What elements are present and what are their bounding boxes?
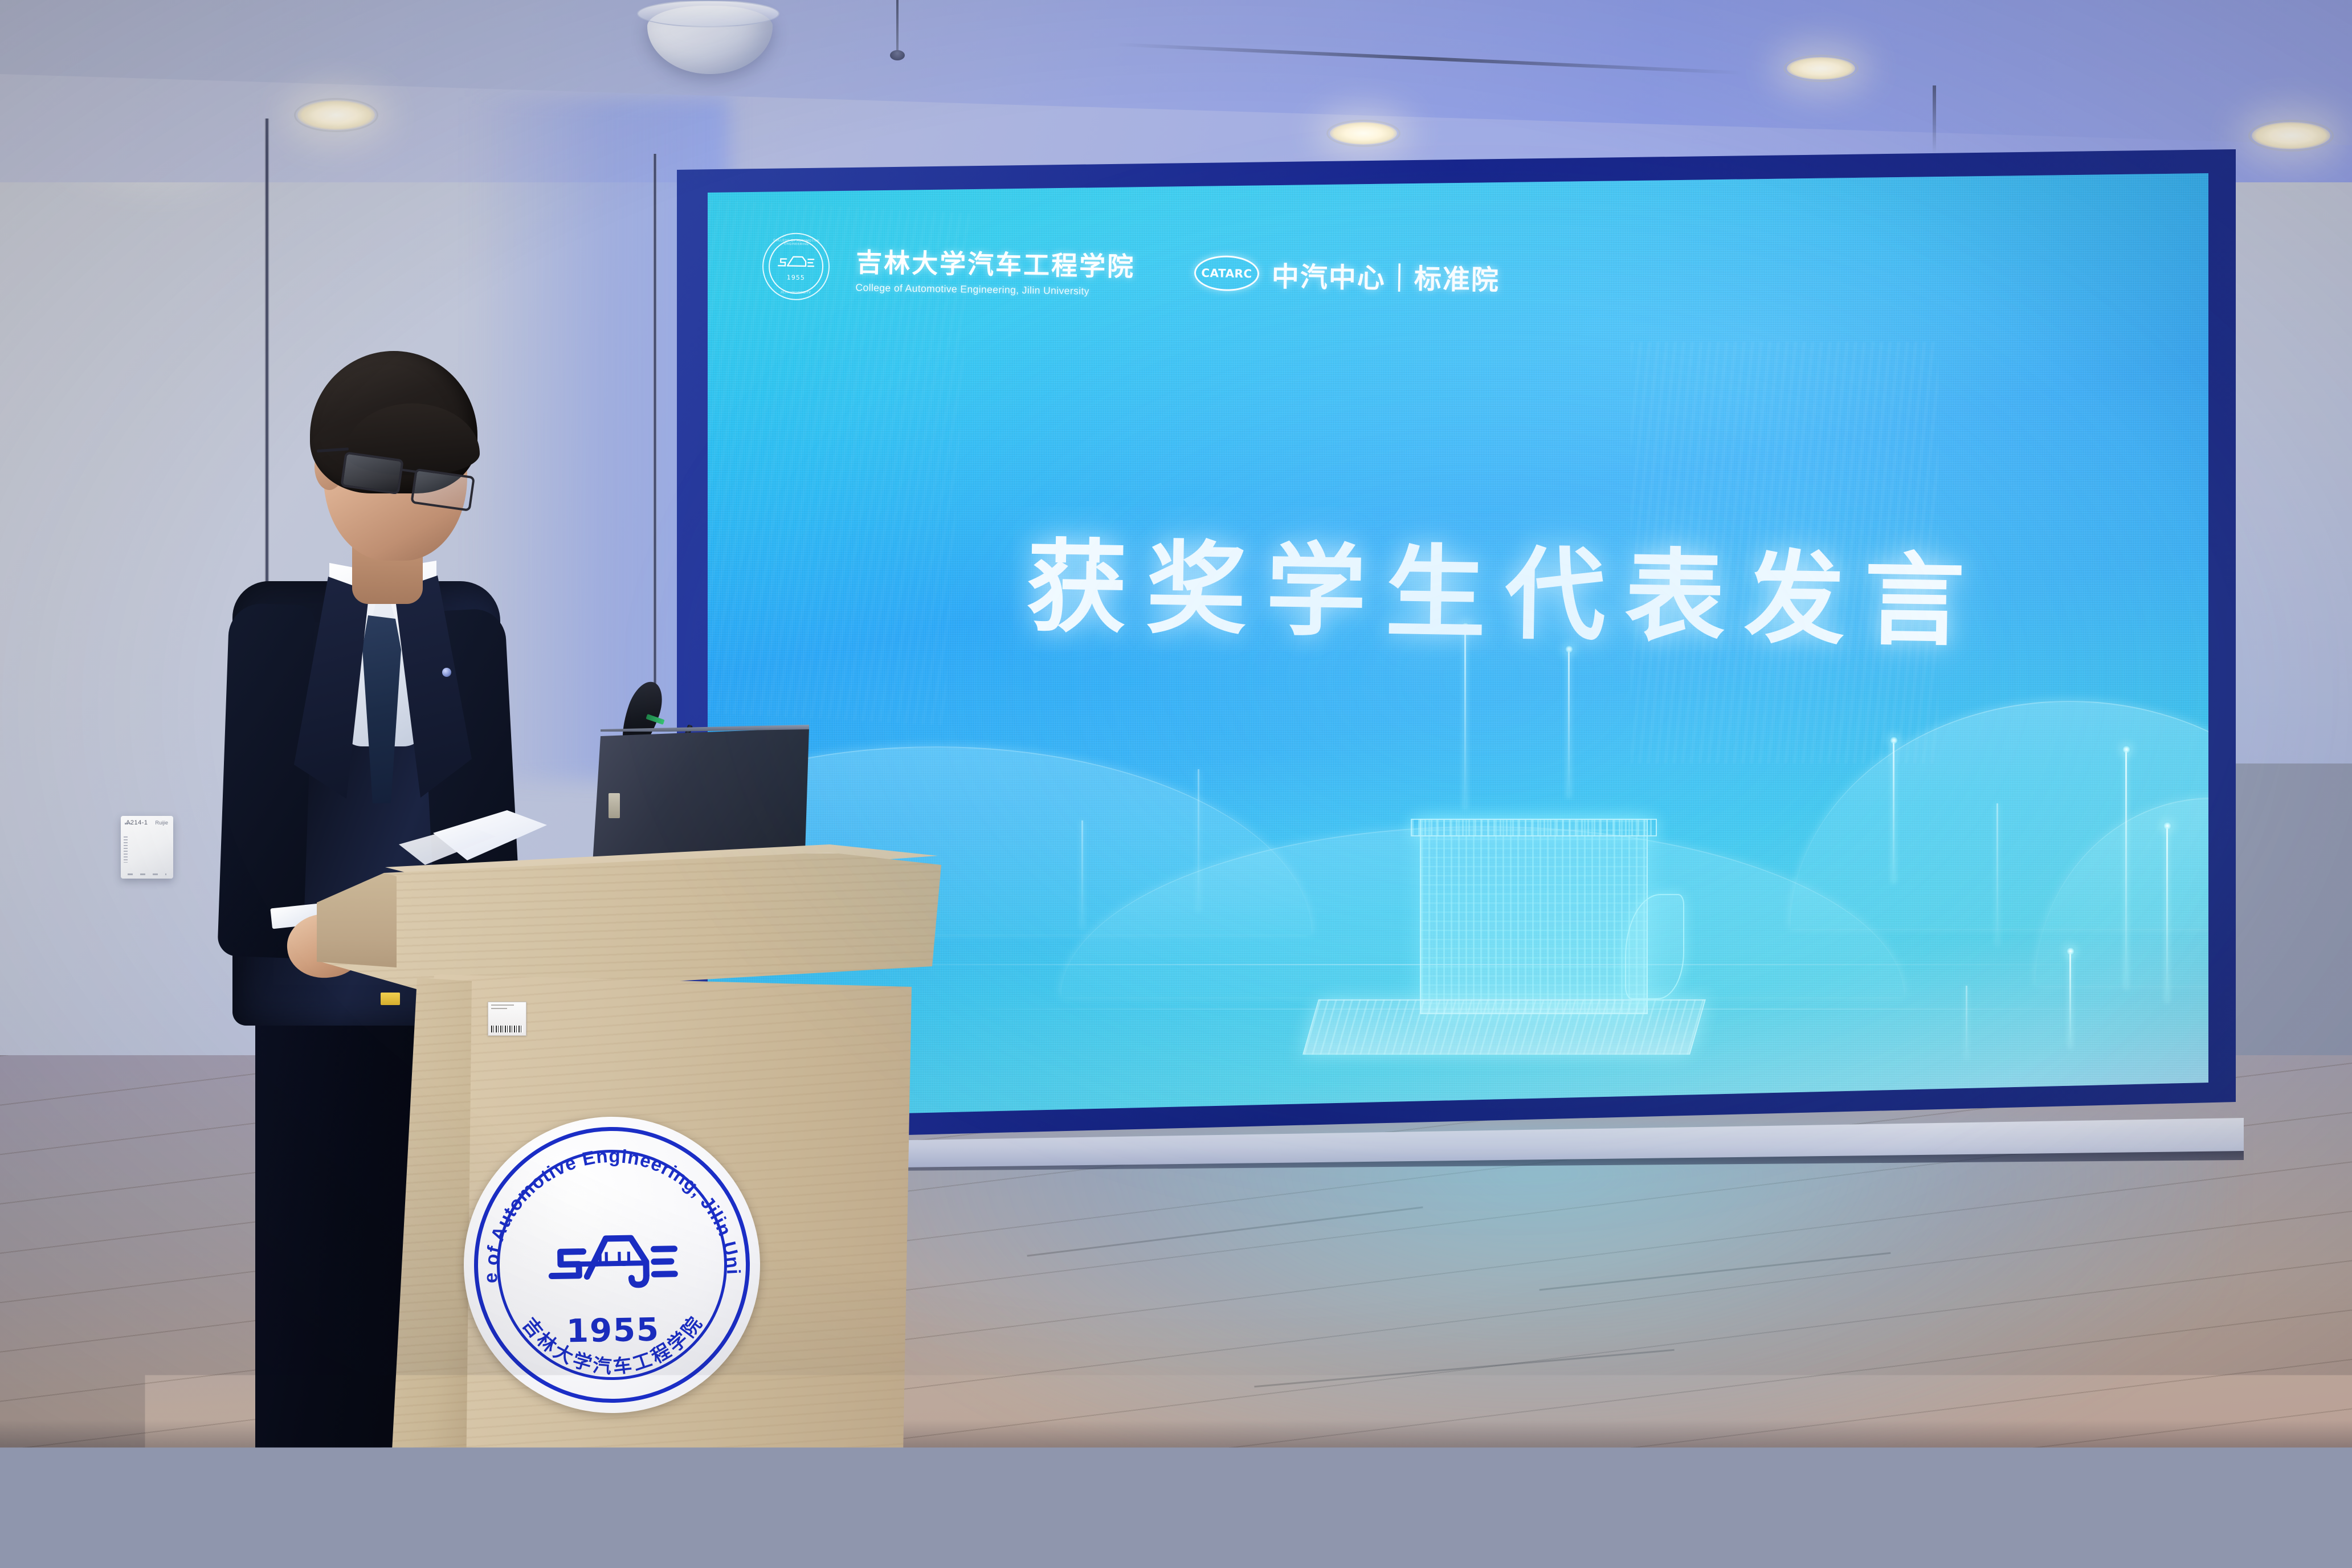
jlu-seal-year: 1955 — [763, 273, 828, 281]
sprinkler-head — [890, 50, 905, 60]
slide-light-pillar-6 — [2166, 826, 2168, 1003]
podium-left-column — [392, 978, 472, 1479]
pillar-dot-3 — [1889, 736, 1898, 745]
podium-asset-tag — [488, 1002, 526, 1036]
sprinkler-stem — [896, 0, 899, 55]
wifi-ap-led-row — [125, 823, 132, 824]
jlu-logo-text-block: 吉林大学汽车工程学院 College of Automotive Enginee… — [855, 242, 1135, 298]
building-roof-cap — [1411, 819, 1657, 836]
podium-emblem: JLU 1955 College of Automotive Engineeri… — [462, 1114, 763, 1416]
slide-light-pillar-8 — [1081, 820, 1083, 929]
jlu-seal-icon: COLLEGE OF AUTOMOTIVE ENGINEERING 1955 J… — [762, 232, 830, 301]
jlu-logo-english: College of Automotive Engineering, Jilin… — [855, 281, 1134, 298]
ceiling-downlight-4 — [1787, 57, 1855, 80]
pillar-dot-5 — [2122, 745, 2130, 754]
catarc-mark-text: CATARC — [1201, 266, 1252, 280]
slide-light-pillar-4 — [2069, 952, 2071, 1048]
ceiling-sprinkler — [889, 0, 906, 55]
ceiling-downlight-2 — [2252, 122, 2330, 149]
slide-light-pillar-10 — [1966, 986, 1967, 1060]
wifi-ap-brand: Ruijie — [155, 820, 168, 826]
photo-scene: COLLEGE OF AUTOMOTIVE ENGINEERING 1955 J… — [0, 0, 2352, 1568]
jlu-seal-arc-bottom: JILIN UNIVERSITY — [763, 291, 828, 295]
slide-logo-row: COLLEGE OF AUTOMOTIVE ENGINEERING 1955 J… — [762, 232, 1500, 311]
pillar-dot-6 — [2163, 822, 2171, 830]
svg-text:College of Automotive Engineer: College of Automotive Engineering, Jilin… — [462, 1114, 745, 1284]
ceiling-downlight-3 — [1330, 122, 1397, 145]
jlu-logo-chinese: 吉林大学汽车工程学院 — [856, 242, 1136, 284]
wifi-ap-buttons — [128, 873, 166, 875]
building-plinth — [1302, 999, 1706, 1055]
podium-front-fascia — [317, 852, 941, 995]
slide-title: 获奖学生代表发言 — [1026, 505, 1985, 665]
catarc-logo-block: CATARC 中汽中心｜标准院 — [1194, 253, 1500, 297]
wifi-access-point: A214-1 Ruijie — [121, 816, 173, 879]
teacup — [2004, 1486, 2105, 1568]
glasses-lens-right — [410, 468, 475, 512]
catarc-oval-icon: CATARC — [1194, 255, 1259, 292]
svg-text:吉林大学汽车工程学院: 吉林大学汽车工程学院 — [518, 1310, 709, 1379]
pendant-speaker-ring — [637, 0, 779, 27]
ceiling-conduit-drop — [1933, 85, 1936, 154]
glasses-lens-left — [340, 451, 404, 495]
asset-tag-barcode — [491, 1026, 523, 1032]
glasses-bridge — [401, 468, 417, 473]
emblem-arc-text-svg: College of Automotive Engineering, Jilin… — [462, 1114, 763, 1416]
cae-car-monogram-icon — [776, 253, 816, 271]
teacup-knob — [2047, 1486, 2064, 1505]
slide-building-graphic — [1420, 763, 1648, 1014]
slide-light-pillar-7 — [1996, 803, 1998, 946]
slide-light-pillar-9 — [1198, 769, 1199, 912]
asset-tag-line-2 — [491, 1008, 507, 1009]
wifi-ap-vents — [124, 836, 128, 863]
asset-tag-line-1 — [491, 1004, 514, 1006]
presenter-lapel-pin — [442, 668, 451, 677]
building-tower — [1420, 819, 1648, 1014]
slide-light-pillar-3 — [1893, 741, 1894, 883]
teacup-handle — [2097, 1527, 2127, 1562]
slide-light-pillar-5 — [2125, 750, 2127, 989]
catarc-chinese-text: 中汽中心｜标准院 — [1271, 254, 1500, 297]
podium: JLU 1955 College of Automotive Engineeri… — [317, 820, 949, 1555]
ceiling-downlight-1 — [297, 100, 375, 130]
lenovo-logo-badge — [609, 793, 620, 818]
jlu-seal-arc-top: COLLEGE OF AUTOMOTIVE ENGINEERING — [764, 239, 829, 247]
pillar-dot-4 — [2066, 947, 2075, 955]
podium-cable-clip — [381, 993, 400, 1005]
